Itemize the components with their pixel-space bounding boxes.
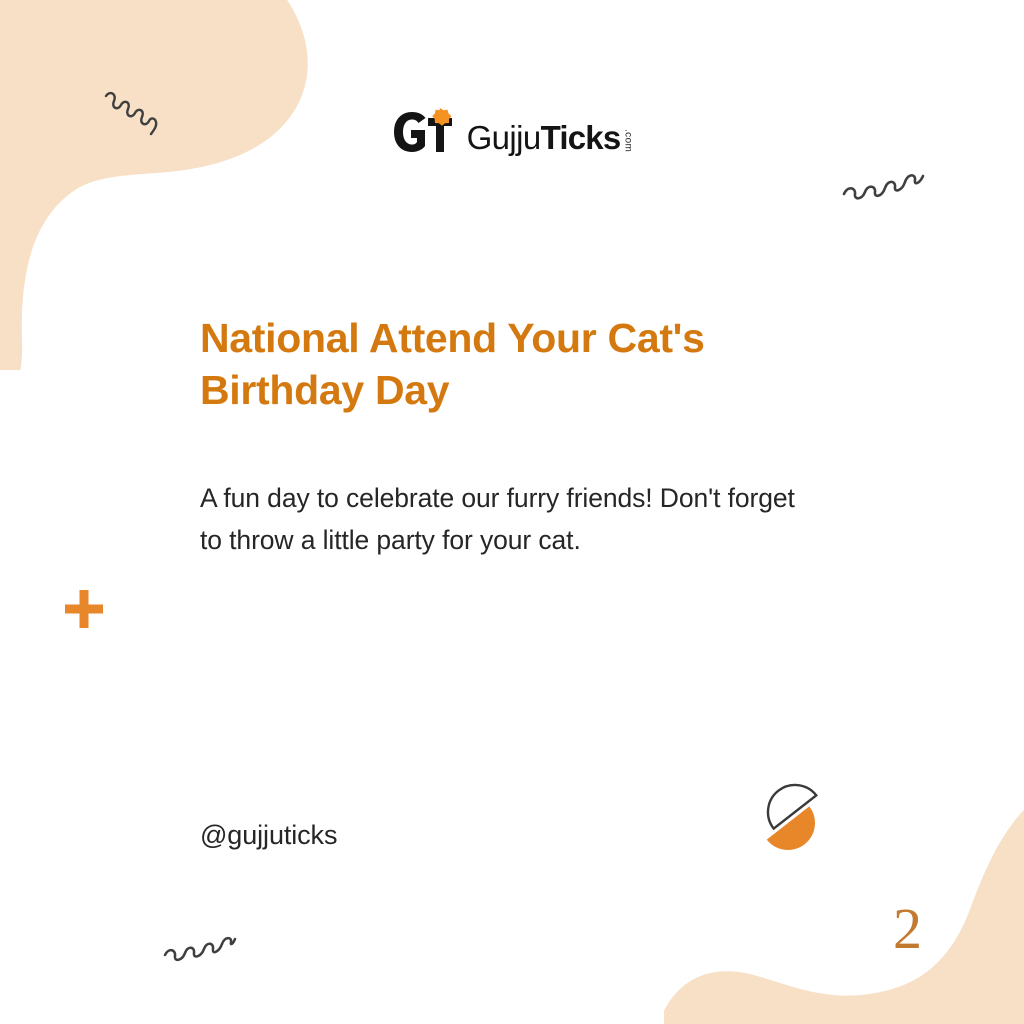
gt-logo-mark-icon	[392, 108, 454, 154]
half-circle-decoration	[755, 782, 829, 854]
squiggle-bottom-left-icon	[162, 900, 238, 962]
brand-logo: Gujju Ticks .com	[0, 108, 1024, 154]
decorative-blob-bottom-right	[664, 782, 1024, 1024]
description-text: A fun day to celebrate our furry friends…	[200, 478, 805, 562]
page-number: 2	[893, 895, 922, 962]
wordmark-part-two: Ticks	[541, 121, 621, 154]
brand-wordmark: Gujju Ticks .com	[467, 121, 633, 154]
plus-shape-icon	[64, 589, 104, 629]
wordmark-part-one: Gujju	[467, 121, 541, 154]
social-post-canvas: Gujju Ticks .com National Attend Your Ca…	[0, 0, 1024, 1024]
page-title: National Attend Your Cat's Birthday Day	[200, 312, 820, 417]
wordmark-tld: .com	[622, 129, 632, 152]
social-handle: @gujjuticks	[200, 820, 337, 851]
